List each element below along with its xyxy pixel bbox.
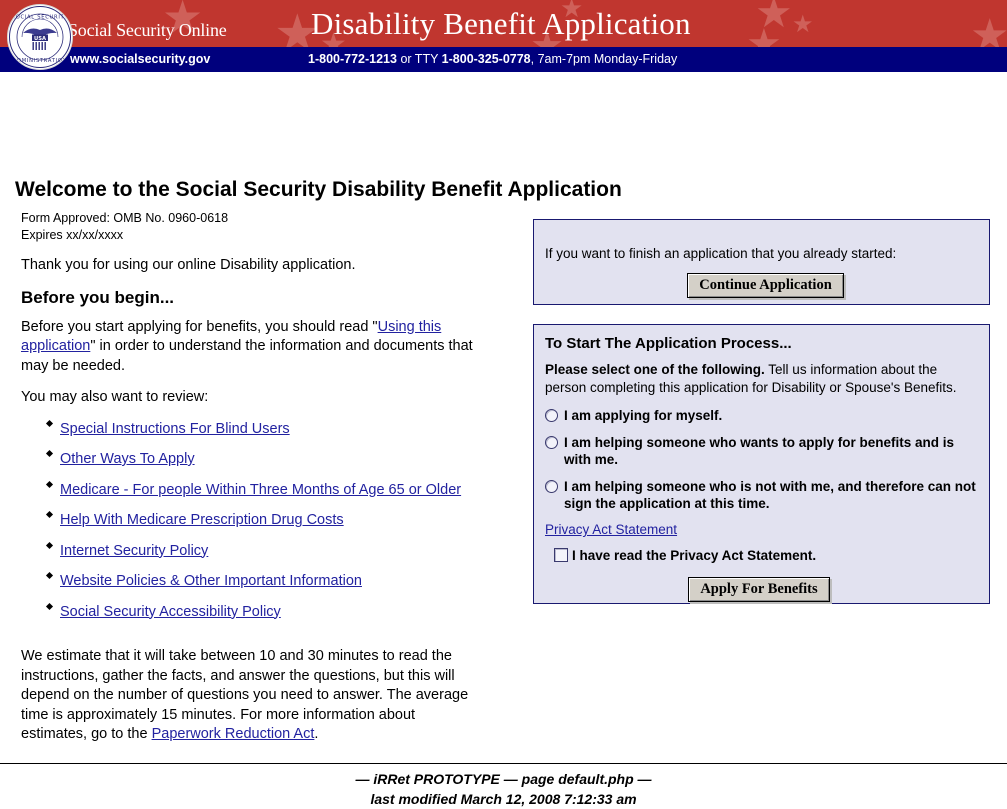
time-estimate-paragraph: We estimate that it will take between 10… [21, 647, 471, 745]
banner-bottom-rule [0, 72, 1007, 76]
phone-separator: or TTY [397, 52, 442, 66]
review-link[interactable]: Internet Security Policy [60, 543, 208, 559]
radio-button-icon[interactable] [545, 436, 558, 449]
decorative-star-icon: ★ [970, 14, 1007, 47]
bullet-diamond-icon [46, 602, 53, 609]
site-masthead: ★ ★ ★ ★ ★ ★ ★ ★ ★ SOCIAL SECURITY ADMINI… [0, 0, 1007, 76]
review-intro-text: You may also want to review: [21, 388, 501, 408]
svg-text:USA: USA [34, 36, 46, 42]
continue-button-row: Continue Application [534, 273, 989, 298]
review-link[interactable]: Special Instructions For Blind Users [60, 421, 290, 437]
continue-prompt: If you want to finish an application tha… [545, 245, 896, 263]
select-one-bold-text: Please select one of the following. [545, 362, 765, 377]
omb-number: Form Approved: OMB No. 0960-0618 [21, 210, 501, 227]
decorative-star-icon: ★ [755, 0, 793, 34]
radio-option-label: I am helping someone who is not with me,… [564, 479, 976, 511]
omb-expiry: Expires xx/xx/xxxx [21, 227, 501, 244]
phone-tty: 1-800-325-0778 [442, 52, 531, 66]
before-you-begin-heading: Before you begin... [21, 288, 501, 308]
thank-you-text: Thank you for using our online Disabilit… [21, 256, 501, 276]
bullet-diamond-icon [46, 572, 53, 579]
footer-prototype-line: — iRRet PROTOTYPE — page default.php — [0, 769, 1007, 789]
continue-application-panel: If you want to finish an application tha… [533, 219, 990, 305]
radio-option-label: I am helping someone who wants to apply … [564, 435, 954, 467]
checkbox-label: I have read the Privacy Act Statement. [572, 548, 816, 563]
radio-button-icon[interactable] [545, 480, 558, 493]
svg-text:SOCIAL SECURITY: SOCIAL SECURITY [12, 15, 69, 21]
list-item: Help With Medicare Prescription Drug Cos… [21, 511, 501, 531]
radio-option-label: I am applying for myself. [564, 408, 722, 423]
phone-hours: , 7am-7pm Monday-Friday [531, 52, 678, 66]
radio-option-helping-someone-present[interactable]: I am helping someone who wants to apply … [545, 434, 977, 468]
privacy-act-statement-row: Privacy Act Statement [545, 522, 977, 537]
review-links-list: Special Instructions For Blind Users Oth… [21, 420, 501, 623]
left-content-column: Form Approved: OMB No. 0960-0618 Expires… [21, 210, 501, 633]
bullet-diamond-icon [46, 480, 53, 487]
continue-application-button[interactable]: Continue Application [687, 273, 844, 298]
radio-option-helping-someone-absent[interactable]: I am helping someone who is not with me,… [545, 478, 977, 512]
list-item: Special Instructions For Blind Users [21, 420, 501, 440]
estimate-period: . [314, 726, 318, 742]
privacy-act-statement-link[interactable]: Privacy Act Statement [545, 522, 677, 537]
apply-button-row: Apply For Benefits [545, 577, 977, 602]
start-panel-intro: Please select one of the following. Tell… [545, 361, 977, 396]
phone-primary: 1-800-772-1213 [308, 52, 397, 66]
radio-button-icon[interactable] [545, 409, 558, 422]
page-footer: — iRRet PROTOTYPE — page default.php — l… [0, 769, 1007, 809]
welcome-heading: Welcome to the Social Security Disabilit… [15, 178, 622, 202]
bullet-diamond-icon [46, 450, 53, 457]
omb-approval-block: Form Approved: OMB No. 0960-0618 Expires… [21, 210, 501, 244]
ssa-seal-icon: SOCIAL SECURITY ADMINISTRATION USA [7, 4, 73, 70]
list-item: Social Security Accessibility Policy [21, 603, 501, 623]
contact-phone-line: 1-800-772-1213 or TTY 1-800-325-0778, 7a… [308, 52, 677, 66]
footer-divider [0, 763, 1007, 764]
bullet-diamond-icon [46, 511, 53, 518]
apply-for-benefits-button[interactable]: Apply For Benefits [688, 577, 829, 602]
list-item: Internet Security Policy [21, 542, 501, 562]
before-text-prefix: Before you start applying for benefits, … [21, 319, 378, 335]
agency-name: Social Security Online [68, 20, 227, 41]
review-link[interactable]: Social Security Accessibility Policy [60, 604, 281, 620]
list-item: Medicare - For people Within Three Month… [21, 481, 501, 501]
start-application-panel: To Start The Application Process... Plea… [533, 324, 990, 604]
privacy-acknowledgement-checkbox-row[interactable]: I have read the Privacy Act Statement. [545, 547, 977, 564]
start-panel-heading: To Start The Application Process... [545, 335, 977, 352]
review-link[interactable]: Medicare - For people Within Three Month… [60, 482, 461, 498]
website-url[interactable]: www.socialsecurity.gov [70, 52, 210, 66]
before-you-begin-text: Before you start applying for benefits, … [21, 318, 501, 377]
bullet-diamond-icon [46, 541, 53, 548]
review-link[interactable]: Other Ways To Apply [60, 451, 195, 467]
paperwork-reduction-act-link[interactable]: Paperwork Reduction Act [152, 726, 315, 742]
start-panel-inner: To Start The Application Process... Plea… [534, 325, 989, 602]
list-item: Website Policies & Other Important Infor… [21, 572, 501, 592]
radio-option-applying-for-myself[interactable]: I am applying for myself. [545, 407, 977, 424]
svg-text:ADMINISTRATION: ADMINISTRATION [13, 58, 67, 64]
review-link[interactable]: Help With Medicare Prescription Drug Cos… [60, 512, 344, 528]
footer-last-modified-line: last modified March 12, 2008 7:12:33 am [0, 789, 1007, 809]
decorative-star-icon: ★ [792, 12, 814, 36]
checkbox-icon[interactable] [554, 548, 568, 562]
page-title: Disability Benefit Application [311, 6, 691, 42]
review-link[interactable]: Website Policies & Other Important Infor… [60, 573, 362, 589]
list-item: Other Ways To Apply [21, 450, 501, 470]
bullet-diamond-icon [46, 419, 53, 426]
